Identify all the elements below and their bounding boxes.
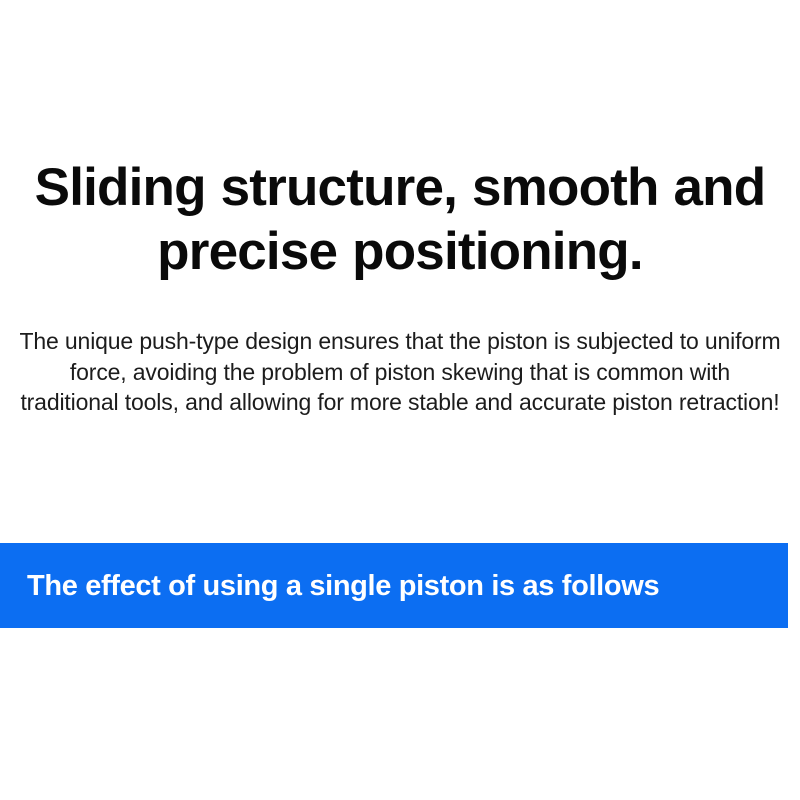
product-feature-panel: Sliding structure, smooth and precise po… xyxy=(0,0,800,800)
section-banner-label: The effect of using a single piston is a… xyxy=(27,569,659,603)
headline-line-1: Sliding structure, smooth and xyxy=(35,158,766,217)
description-line-1: The unique push-type design ensures that… xyxy=(19,328,698,354)
description-paragraph: The unique push-type design ensures that… xyxy=(18,326,782,418)
headline-line-2: precise positioning. xyxy=(157,222,643,281)
section-banner: The effect of using a single piston is a… xyxy=(0,543,788,628)
headline-section: Sliding structure, smooth and precise po… xyxy=(0,156,800,284)
page-title: Sliding structure, smooth and precise po… xyxy=(18,156,782,284)
description-section: The unique push-type design ensures that… xyxy=(0,326,800,418)
description-line-4: accurate piston retraction! xyxy=(519,389,780,415)
